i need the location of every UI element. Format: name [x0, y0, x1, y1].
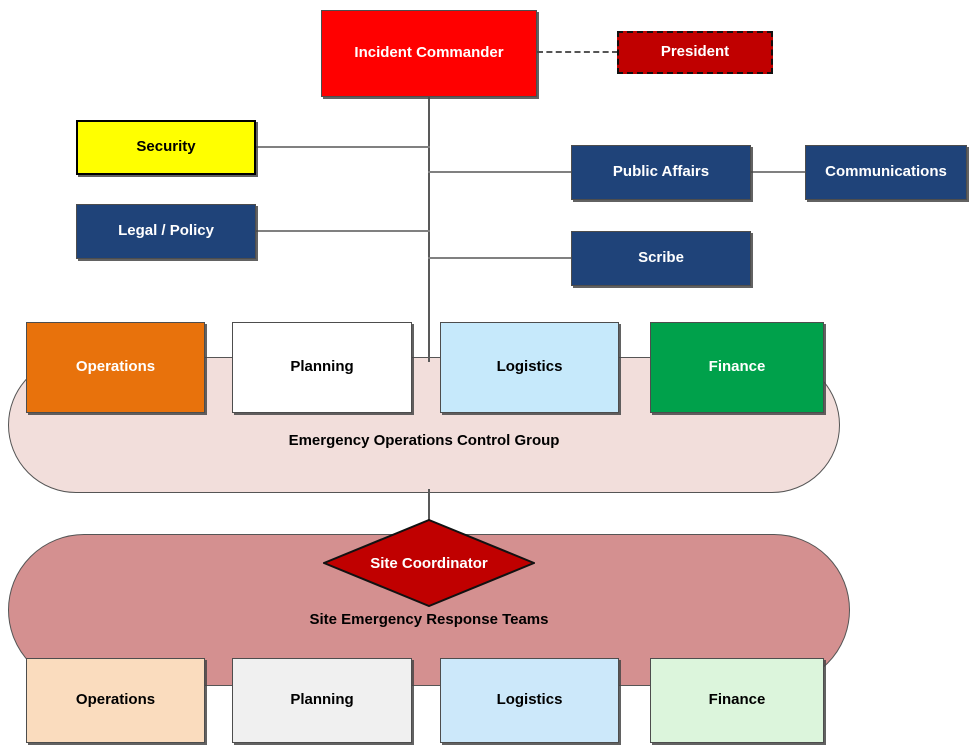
sert-section-logistics[interactable]: Logistics [440, 658, 619, 743]
node-label: Communications [825, 163, 947, 182]
node-label: Planning [290, 691, 353, 710]
sert-section-finance[interactable]: Finance [650, 658, 824, 743]
node-label: Logistics [497, 691, 563, 710]
connector-ic-president [537, 51, 618, 53]
connector-ic-legal [255, 230, 430, 232]
node-label: Security [136, 138, 195, 157]
node-label: Scribe [638, 249, 684, 268]
node-label: Logistics [497, 358, 563, 377]
group-label-sert: Site Emergency Response Teams [8, 611, 850, 628]
node-site-coordinator[interactable]: Site Coordinator [323, 519, 535, 607]
node-legal-policy[interactable]: Legal / Policy [76, 204, 256, 259]
sert-section-planning[interactable]: Planning [232, 658, 412, 743]
org-chart-canvas: Incident Commander President Security Le… [0, 0, 975, 753]
connector-public-affairs-communications [750, 171, 806, 173]
node-scribe[interactable]: Scribe [571, 231, 751, 286]
node-label: Public Affairs [613, 163, 709, 182]
node-label: Operations [76, 358, 155, 377]
node-label: Operations [76, 691, 155, 710]
connector-ic-security [255, 146, 430, 148]
eoc-section-logistics[interactable]: Logistics [440, 322, 619, 413]
eoc-section-operations[interactable]: Operations [26, 322, 205, 413]
node-label: Legal / Policy [118, 222, 214, 241]
node-label: Finance [709, 358, 766, 377]
diamond-shape [323, 519, 535, 607]
eoc-section-planning[interactable]: Planning [232, 322, 412, 413]
node-label: Incident Commander [354, 44, 503, 63]
eoc-section-finance[interactable]: Finance [650, 322, 824, 413]
sert-section-operations[interactable]: Operations [26, 658, 205, 743]
node-incident-commander[interactable]: Incident Commander [321, 10, 537, 97]
connector-ic-trunk [428, 96, 430, 362]
node-label: Planning [290, 358, 353, 377]
node-label: Finance [709, 691, 766, 710]
connector-ic-scribe [428, 257, 572, 259]
group-label-eoc: Emergency Operations Control Group [8, 432, 840, 449]
node-communications[interactable]: Communications [805, 145, 967, 200]
node-public-affairs[interactable]: Public Affairs [571, 145, 751, 200]
node-security[interactable]: Security [76, 120, 256, 175]
connector-ic-public-affairs [428, 171, 572, 173]
node-label: President [661, 43, 729, 62]
node-president[interactable]: President [617, 31, 773, 74]
